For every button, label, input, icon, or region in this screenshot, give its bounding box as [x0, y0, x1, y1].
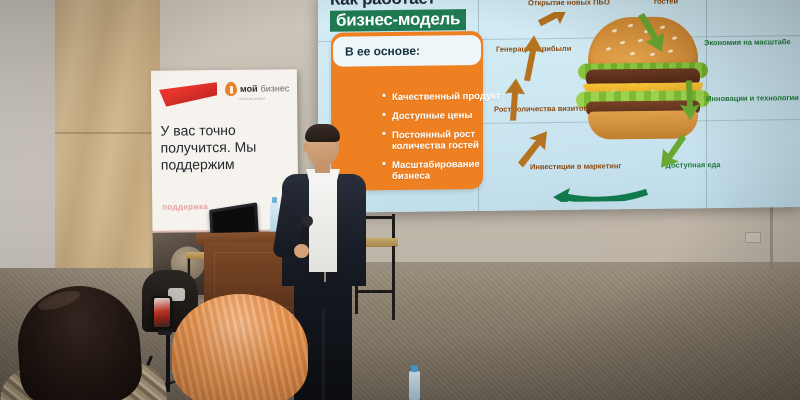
logo-primary: мой	[240, 84, 258, 94]
dress-shirt	[309, 176, 337, 272]
slide-card-heading: В ее основе:	[345, 44, 420, 59]
slide-title-line1: Как работает	[330, 0, 506, 9]
logo-secondary: бизнес	[261, 83, 290, 93]
logo-subtext: national project	[239, 97, 265, 101]
orange-haired-attendee	[172, 294, 308, 400]
hand	[294, 244, 309, 258]
ear	[303, 143, 309, 152]
slide-bullet-list: Качественный продукт Доступные цены Пост…	[342, 91, 518, 191]
presentation-photo-scene: Как работает бизнес-модель В ее основе: …	[0, 0, 800, 400]
wood-wall-panel	[55, 0, 160, 300]
cycle-arrows	[494, 9, 794, 203]
slide-title: Как работает бизнес-модель	[330, 0, 506, 32]
power-outlet	[745, 232, 761, 243]
projection-screen: Как работает бизнес-модель В ее основе: …	[318, 0, 800, 213]
floor-water-bottle	[409, 371, 420, 400]
banner-headline: У вас точно получится. Мы поддержим	[160, 121, 293, 173]
slide-title-line2: бизнес-модель	[330, 9, 466, 32]
left-wall	[0, 0, 60, 300]
cycle-node-1: гостей	[636, 0, 696, 6]
pin-icon	[225, 82, 237, 96]
cycle-node-0: Открытие новых ПБО	[528, 0, 604, 7]
smartphone[interactable]	[152, 296, 172, 329]
moybiznes-logo: мой бизнес	[225, 81, 290, 96]
slide-card-heading-box: В ее основе:	[331, 33, 483, 69]
hair	[305, 124, 340, 142]
banner-footer-text: поддержка	[162, 202, 208, 211]
flag-icon	[159, 82, 217, 107]
